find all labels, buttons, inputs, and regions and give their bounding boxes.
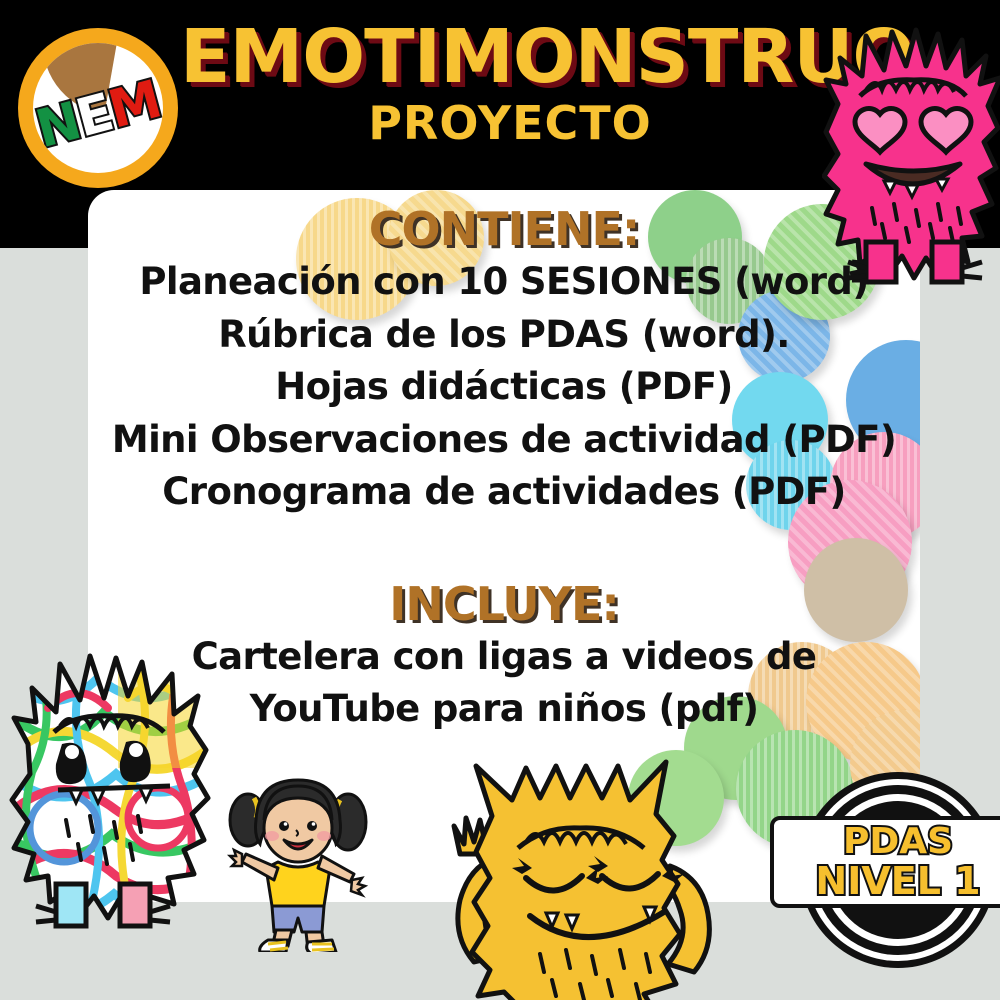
list-item: Planeación con 10 SESIONES (word): [88, 256, 920, 309]
nem-badge: NEM: [18, 28, 178, 188]
pdas-level-badge: PDAS NIVEL 1: [800, 772, 996, 968]
pdas-label-line2: NIVEL 1: [815, 862, 980, 900]
title-block: EMOTIMONSTRUO PROYECTO: [180, 22, 840, 150]
pink-monster-illustration: [822, 18, 1000, 286]
list-item: Cronograma de actividades (PDF): [88, 466, 920, 519]
list-item: Mini Observaciones de actividad (PDF): [88, 414, 920, 467]
yellow-monster-illustration: [430, 756, 730, 1000]
list-item: Hojas didácticas (PDF): [88, 361, 920, 414]
scribble-monster-illustration: [8, 648, 220, 940]
girl-character-illustration: [222, 772, 374, 952]
nem-badge-face: NEM: [33, 43, 163, 173]
page-subtitle: PROYECTO: [180, 96, 840, 150]
pdas-label-line1: PDAS: [843, 824, 953, 860]
list-item: Rúbrica de los PDAS (word).: [88, 309, 920, 362]
section-spacer: [88, 519, 920, 577]
nem-badge-letters: NEM: [33, 73, 163, 157]
pdas-banner: PDAS NIVEL 1: [770, 816, 1000, 908]
page-title: EMOTIMONSTRUO: [180, 22, 840, 92]
section-heading-incluye: INCLUYE:: [88, 577, 920, 631]
section-heading-contiene: CONTIENE:: [88, 202, 920, 256]
